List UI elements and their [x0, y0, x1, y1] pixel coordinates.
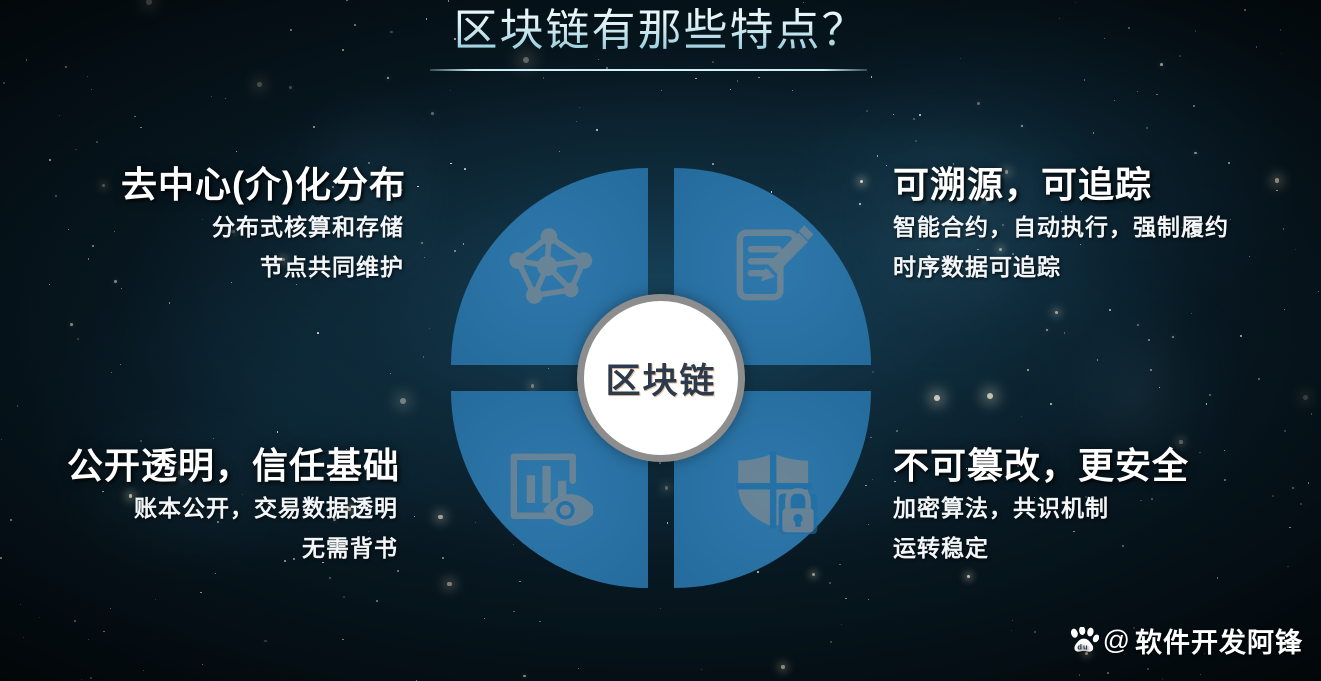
star: [23, 637, 24, 638]
star: [134, 116, 136, 118]
star: [329, 577, 331, 579]
star: [213, 438, 214, 439]
watermark-handle: 软件开发阿锋: [1135, 621, 1303, 660]
star: [1046, 329, 1048, 331]
star: [90, 677, 92, 679]
page-title: 区块链有那些特点？: [454, 2, 868, 60]
star: [1021, 416, 1022, 417]
star: [236, 151, 237, 152]
star: [111, 372, 112, 373]
star: [121, 288, 122, 289]
star: [400, 398, 406, 404]
star: [1318, 291, 1319, 292]
star: [81, 679, 82, 680]
star: [77, 338, 79, 340]
star: [390, 373, 391, 374]
star: [576, 121, 578, 123]
star: [896, 430, 898, 432]
star: [289, 86, 292, 89]
star: [421, 242, 423, 244]
star: [450, 90, 451, 91]
star: [1303, 395, 1308, 400]
star: [1055, 311, 1059, 315]
star: [1, 439, 2, 440]
star: [87, 76, 88, 77]
star: [886, 165, 887, 166]
star: [872, 371, 874, 373]
star: [1162, 678, 1164, 680]
star: [431, 112, 434, 115]
feature-line-bottom-left-2: 无需背书: [0, 529, 410, 569]
star: [1114, 100, 1115, 101]
star: [143, 670, 144, 671]
star: [1191, 313, 1192, 314]
star: [442, 557, 444, 559]
star: [1159, 387, 1160, 388]
star: [877, 155, 879, 157]
feature-block-top-right: 可溯源，可追踪 智能合约，自动执行，强制履约 时序数据可追踪: [893, 162, 1321, 288]
star: [730, 89, 731, 90]
wheel-hub[interactable]: 区块链: [577, 294, 745, 462]
star: [429, 328, 430, 329]
star: [376, 600, 378, 602]
star: [543, 77, 544, 78]
star: [830, 641, 832, 643]
star: [103, 631, 105, 633]
star: [1050, 403, 1051, 404]
star: [1027, 369, 1029, 371]
star: [277, 431, 279, 433]
star: [215, 573, 216, 574]
star: [1258, 378, 1260, 380]
star: [65, 66, 67, 68]
feature-line-top-right-1: 智能合约，自动执行，强制履约: [893, 208, 1321, 248]
star: [257, 82, 262, 87]
chart-eye-icon: [501, 444, 593, 536]
star: [1084, 79, 1086, 81]
star: [211, 96, 213, 98]
star: [915, 140, 917, 142]
watermark: du @ 软件开发阿锋: [1069, 621, 1303, 660]
star: [539, 621, 540, 622]
baidu-paw-icon: du: [1069, 627, 1099, 655]
star: [1093, 132, 1095, 134]
star: [701, 669, 702, 670]
star: [397, 570, 399, 572]
star: [578, 668, 579, 669]
feature-line-bottom-left-1: 账本公开，交易数据透明: [0, 489, 410, 529]
star: [317, 332, 319, 334]
star: [523, 675, 525, 677]
star: [1217, 577, 1218, 578]
star: [893, 114, 894, 115]
star: [91, 89, 92, 90]
star: [484, 618, 485, 619]
star: [1064, 332, 1065, 333]
star: [977, 102, 980, 105]
star: [414, 516, 415, 517]
feature-line-bottom-right-2: 运转稳定: [893, 529, 1321, 569]
star: [155, 599, 156, 600]
star: [74, 620, 76, 622]
star: [1012, 620, 1013, 621]
star: [1137, 91, 1138, 92]
blockchain-wheel-diagram: 区块链: [451, 168, 871, 588]
star: [423, 356, 425, 358]
star: [1172, 336, 1174, 338]
star: [1206, 403, 1208, 405]
star: [781, 665, 784, 668]
star: [70, 323, 73, 326]
star: [49, 159, 51, 161]
star: [424, 257, 425, 258]
star: [934, 395, 940, 401]
star: [3, 82, 5, 84]
star: [1146, 127, 1148, 129]
star: [919, 114, 921, 116]
star: [866, 110, 868, 112]
star: [264, 640, 267, 643]
feature-heading-bottom-left: 公开透明，信任基础: [0, 443, 410, 489]
star: [1107, 672, 1109, 674]
star: [1160, 63, 1163, 66]
network-nodes-icon: [503, 220, 595, 312]
star: [987, 393, 993, 399]
feature-line-bottom-right-1: 加密算法，共识机制: [893, 489, 1321, 529]
star: [387, 77, 389, 79]
star: [75, 149, 76, 150]
star: [17, 405, 18, 406]
star: [596, 129, 598, 131]
star: [1137, 324, 1139, 326]
star: [1011, 630, 1012, 631]
star: [169, 302, 170, 303]
svg-text:du: du: [1077, 642, 1088, 651]
star: [313, 126, 315, 128]
star: [225, 98, 226, 99]
star: [1147, 668, 1149, 670]
star: [871, 76, 873, 78]
star: [712, 61, 714, 63]
feature-heading-top-right: 可溯源，可追踪: [893, 162, 1321, 208]
star: [661, 90, 662, 91]
star: [841, 624, 842, 625]
star: [1109, 309, 1111, 311]
feature-heading-top-left: 去中心(介)化分布: [0, 162, 420, 208]
star: [695, 78, 696, 79]
star: [845, 598, 847, 600]
star: [120, 364, 121, 365]
star: [202, 664, 203, 665]
slide-canvas: 区块链有那些特点？ 去中心(介)化分布 分布式核算和存储 节点共同维护 可溯源，…: [0, 0, 1321, 681]
star: [1148, 339, 1150, 341]
star: [868, 599, 870, 601]
star: [1284, 430, 1286, 432]
star: [20, 604, 21, 605]
star: [1097, 359, 1099, 361]
document-pencil-icon: [727, 218, 819, 310]
star: [342, 639, 343, 640]
star: [1209, 394, 1211, 396]
feature-line-top-left-1: 分布式核算和存储: [0, 208, 420, 248]
star: [59, 115, 60, 116]
shield-lock-icon: [729, 444, 821, 536]
star: [559, 151, 560, 152]
feature-line-top-left-2: 节点共同维护: [0, 248, 420, 288]
star: [513, 611, 515, 613]
star: [872, 479, 873, 480]
star: [88, 639, 89, 640]
star: [1194, 152, 1197, 155]
star: [1150, 369, 1152, 371]
feature-block-top-left: 去中心(介)化分布 分布式核算和存储 节点共同维护: [0, 162, 420, 288]
title-underline: [430, 69, 867, 71]
star: [39, 617, 40, 618]
feature-block-bottom-right: 不可篡改，更安全 加密算法，共识机制 运转稳定: [893, 443, 1321, 569]
star: [758, 77, 759, 78]
star: [200, 592, 201, 593]
star: [1284, 309, 1286, 311]
star: [1156, 94, 1157, 95]
star: [1034, 631, 1036, 633]
star: [1311, 413, 1313, 415]
star: [96, 141, 98, 143]
star: [737, 80, 738, 81]
star: [792, 90, 793, 91]
star: [1193, 105, 1195, 107]
star: [1079, 674, 1080, 675]
feature-heading-bottom-right: 不可篡改，更安全: [893, 443, 1321, 489]
title-container: 区块链有那些特点？: [0, 2, 1321, 60]
star: [343, 596, 345, 598]
star: [913, 118, 915, 120]
star: [967, 575, 970, 578]
star: [140, 127, 142, 129]
star: [438, 515, 443, 520]
star: [1240, 335, 1241, 336]
watermark-at: @: [1103, 625, 1131, 656]
feature-block-bottom-left: 公开透明，信任基础 账本公开，交易数据透明 无需背书: [0, 443, 410, 569]
star: [579, 107, 580, 108]
star: [712, 163, 714, 165]
star: [450, 163, 451, 164]
star: [1200, 674, 1202, 676]
star: [660, 608, 661, 609]
star: [1021, 125, 1023, 127]
feature-line-top-right-2: 时序数据可追踪: [893, 248, 1321, 288]
star: [110, 608, 111, 609]
wheel-hub-label: 区块链: [605, 353, 716, 404]
